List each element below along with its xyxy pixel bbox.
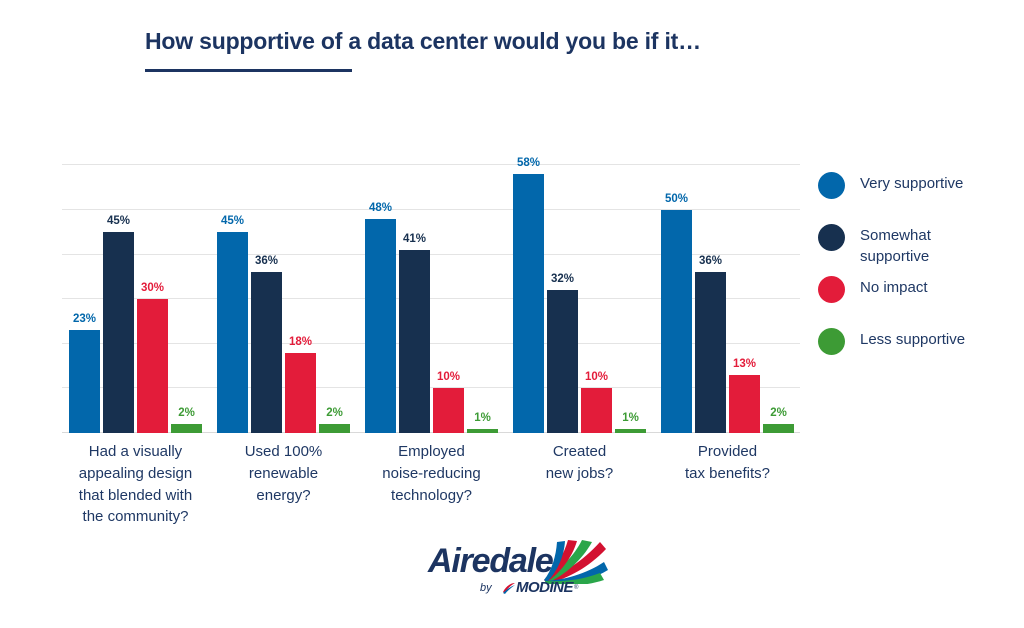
bar-value-label: 10% <box>585 371 608 383</box>
category-label: Employed noise-reducing technology? <box>352 441 512 506</box>
category-label: Provided tax benefits? <box>648 441 808 485</box>
bar-value-label: 41% <box>403 233 426 245</box>
bar[interactable] <box>171 424 202 433</box>
bar-value-label: 48% <box>369 202 392 214</box>
legend-color-dot <box>818 224 845 251</box>
bar[interactable] <box>729 375 760 433</box>
bar[interactable] <box>433 388 464 433</box>
bar[interactable] <box>467 429 498 433</box>
bar[interactable] <box>547 290 578 433</box>
bar-column[interactable]: 36% <box>251 134 282 433</box>
bar-column[interactable]: 2% <box>319 134 350 433</box>
bar[interactable] <box>217 232 248 433</box>
bar[interactable] <box>615 429 646 433</box>
legend-color-dot <box>818 172 845 199</box>
bar-value-label: 2% <box>178 407 195 419</box>
bar[interactable] <box>695 272 726 433</box>
bar-value-label: 50% <box>665 193 688 205</box>
legend-label: Very supportive <box>860 170 963 194</box>
bar-value-label: 1% <box>622 412 639 424</box>
legend-item[interactable]: Less supportive <box>818 326 965 378</box>
bar-column[interactable]: 13% <box>729 134 760 433</box>
bar[interactable] <box>103 232 134 433</box>
bar-value-label: 2% <box>326 407 343 419</box>
bar-value-label: 23% <box>73 313 96 325</box>
registered-mark: ® <box>574 585 578 591</box>
bar-column[interactable]: 23% <box>69 134 100 433</box>
bar-column[interactable]: 2% <box>171 134 202 433</box>
bar-group: 45%36%18%2% <box>217 134 350 433</box>
bar-group: 23%45%30%2% <box>69 134 202 433</box>
title-underline <box>145 69 352 72</box>
legend-color-dot <box>818 328 845 355</box>
bar-value-label: 36% <box>255 255 278 267</box>
bar-value-label: 18% <box>289 336 312 348</box>
bar[interactable] <box>285 353 316 433</box>
bar-column[interactable]: 2% <box>763 134 794 433</box>
bar-groups: 23%45%30%2%45%36%18%2%48%41%10%1%58%32%1… <box>62 134 800 433</box>
title-block: How supportive of a data center would yo… <box>145 28 865 72</box>
legend-label: No impact <box>860 274 928 298</box>
bar-column[interactable]: 45% <box>103 134 134 433</box>
bar-group: 48%41%10%1% <box>365 134 498 433</box>
category-label: Used 100% renewable energy? <box>204 441 364 506</box>
logo-wordmark: Airedale <box>428 542 553 581</box>
legend-color-dot <box>818 276 845 303</box>
chart-plot-area: 23%45%30%2%45%36%18%2%48%41%10%1%58%32%1… <box>62 134 800 433</box>
modine-swoosh-icon <box>502 581 516 595</box>
bar-column[interactable]: 48% <box>365 134 396 433</box>
bar[interactable] <box>513 174 544 433</box>
x-axis-category-labels: Had a visually appealing design that ble… <box>62 441 800 541</box>
legend-item[interactable]: No impact <box>818 274 965 326</box>
category-label: Had a visually appealing design that ble… <box>56 441 216 528</box>
bar[interactable] <box>763 424 794 433</box>
bar[interactable] <box>661 210 692 433</box>
bar-column[interactable]: 18% <box>285 134 316 433</box>
airedale-by-modine-logo: Airedale by MODINE ® <box>428 538 608 600</box>
bar-value-label: 30% <box>141 282 164 294</box>
bar[interactable] <box>581 388 612 433</box>
bar-value-label: 45% <box>107 215 130 227</box>
bar-column[interactable]: 10% <box>433 134 464 433</box>
bar-column[interactable]: 45% <box>217 134 248 433</box>
category-label: Created new jobs? <box>500 441 660 485</box>
bar-group: 50%36%13%2% <box>661 134 794 433</box>
bar-column[interactable]: 58% <box>513 134 544 433</box>
bar-column[interactable]: 30% <box>137 134 168 433</box>
bar-group: 58%32%10%1% <box>513 134 646 433</box>
bar-column[interactable]: 10% <box>581 134 612 433</box>
bar-column[interactable]: 1% <box>467 134 498 433</box>
legend-item[interactable]: Somewhat supportive <box>818 222 965 274</box>
bar-column[interactable]: 50% <box>661 134 692 433</box>
logo-modine-text: MODINE <box>516 579 573 596</box>
bar-value-label: 32% <box>551 273 574 285</box>
bar[interactable] <box>365 219 396 433</box>
bar[interactable] <box>137 299 168 433</box>
bar-value-label: 58% <box>517 157 540 169</box>
legend-label: Less supportive <box>860 326 965 350</box>
page-title: How supportive of a data center would yo… <box>145 28 865 56</box>
bar-column[interactable]: 32% <box>547 134 578 433</box>
logo-modine-lockup: MODINE ® <box>502 579 578 596</box>
legend-item[interactable]: Very supportive <box>818 170 965 222</box>
bar-value-label: 13% <box>733 358 756 370</box>
legend-label: Somewhat supportive <box>860 222 931 268</box>
chart-legend: Very supportiveSomewhat supportiveNo imp… <box>818 170 965 378</box>
bar-value-label: 45% <box>221 215 244 227</box>
bar[interactable] <box>69 330 100 433</box>
bar-value-label: 2% <box>770 407 787 419</box>
logo-by-text: by <box>480 582 492 594</box>
bar-column[interactable]: 1% <box>615 134 646 433</box>
bar-column[interactable]: 36% <box>695 134 726 433</box>
bar-value-label: 10% <box>437 371 460 383</box>
bar-value-label: 1% <box>474 412 491 424</box>
bar[interactable] <box>251 272 282 433</box>
bar[interactable] <box>399 250 430 433</box>
bar[interactable] <box>319 424 350 433</box>
bar-value-label: 36% <box>699 255 722 267</box>
bar-column[interactable]: 41% <box>399 134 430 433</box>
